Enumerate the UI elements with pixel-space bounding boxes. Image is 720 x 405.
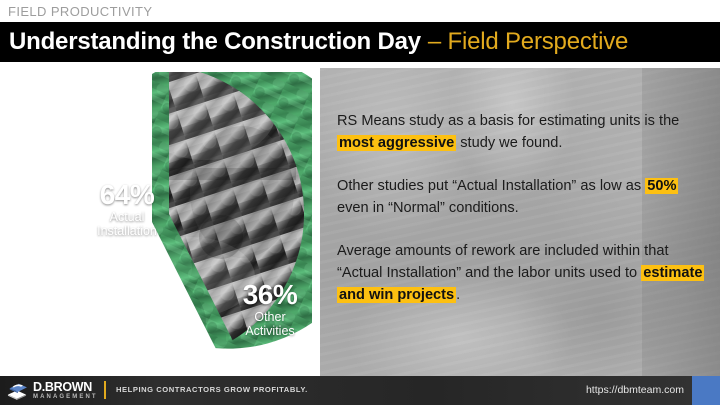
footer-tagline: HELPING CONTRACTORS GROW PROFITABLY.	[116, 385, 308, 394]
body-copy: RS Means study as a basis for estimating…	[337, 110, 709, 306]
footer-divider	[104, 381, 106, 399]
pie-chart-svg	[6, 72, 312, 372]
brand-subname: MANAGEMENT	[33, 394, 98, 400]
dbrown-logo-icon	[6, 381, 28, 400]
copy-p2-highlight: 50%	[645, 178, 678, 194]
footer-website-url[interactable]: https://dbmteam.com	[586, 384, 684, 396]
brand-logo[interactable]: D.BROWN MANAGEMENT	[6, 379, 98, 402]
copy-p2-part-b: even in “Normal” conditions.	[337, 200, 519, 216]
title-bar: Understanding the Construction Day – Fie…	[0, 22, 720, 62]
page-title: Understanding the Construction Day	[0, 28, 421, 56]
eyebrow-label: FIELD PRODUCTIVITY	[8, 4, 152, 19]
copy-p1-highlight: most aggressive	[337, 135, 456, 151]
copy-p2-part-a: Other studies put “Actual Installation” …	[337, 178, 645, 194]
pie-chart: 64% Actual Installation 36% Other Activi…	[6, 72, 312, 372]
copy-paragraph-2: Other studies put “Actual Installation” …	[337, 175, 709, 219]
copy-p1-part-b: study we found.	[456, 135, 562, 151]
page-subtitle: – Field Perspective	[428, 28, 628, 56]
copy-p1-part-a: RS Means study as a basis for estimating…	[337, 113, 679, 129]
brand-logo-text: D.BROWN MANAGEMENT	[33, 381, 98, 401]
copy-p3-part-a: Average amounts of rework are included w…	[337, 243, 669, 281]
slide: FIELD PRODUCTIVITY Understanding the Con…	[0, 0, 720, 405]
footer-bar: D.BROWN MANAGEMENT HELPING CONTRACTORS G…	[0, 376, 720, 405]
copy-paragraph-3: Average amounts of rework are included w…	[337, 240, 709, 306]
copy-paragraph-1: RS Means study as a basis for estimating…	[337, 110, 709, 154]
footer-accent-tab	[692, 376, 720, 405]
copy-p3-part-b: .	[456, 287, 460, 303]
brand-name: D.BROWN	[33, 381, 98, 394]
